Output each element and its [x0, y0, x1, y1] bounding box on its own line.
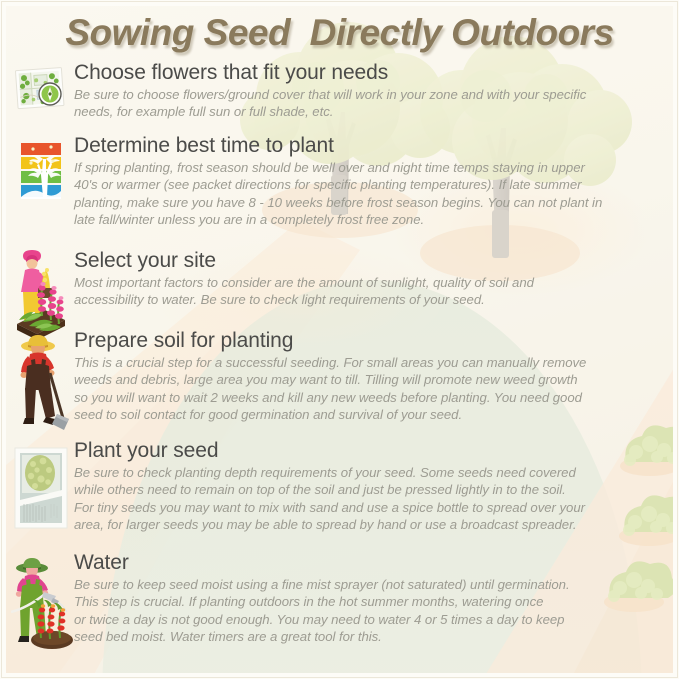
- gardener-watering-icon: [8, 554, 74, 654]
- step-body-line: accessibility to water. Be sure to check…: [74, 291, 664, 309]
- planter-flowers-icon: [11, 250, 71, 342]
- seed-packet-icon: [13, 446, 69, 530]
- step-icon-cell: [8, 250, 74, 342]
- step-body-line: seed to soil contact for good germinatio…: [74, 406, 664, 424]
- step-body-line: Be sure to check planting depth requirem…: [74, 464, 664, 482]
- step-body-line: area, for larger seeds you may be able t…: [74, 516, 664, 534]
- step-body: Most important factors to consider are t…: [74, 274, 664, 309]
- step-text-cell: Prepare soil for planting This is a cruc…: [74, 330, 672, 424]
- step-icon-cell: [8, 440, 74, 530]
- step-body: Be sure to check planting depth requirem…: [74, 464, 664, 534]
- compass-icon: [39, 83, 61, 105]
- step-icon-cell: [8, 62, 74, 118]
- step-text-cell: Plant your seed Be sure to check plantin…: [74, 440, 672, 534]
- step-body-line: 40's or warmer (see packet directions fo…: [74, 176, 664, 194]
- step-body-line: For tiny seeds you may want to mix with …: [74, 499, 664, 517]
- step-body-line: This is a crucial step for a successful …: [74, 354, 664, 372]
- step-body-line: If spring planting, frost season should …: [74, 159, 664, 177]
- step-heading: Prepare soil for planting: [74, 330, 664, 353]
- step-item: Choose flowers that fit your needs Be su…: [8, 62, 672, 121]
- step-body-line: Most important factors to consider are t…: [74, 274, 664, 292]
- step-body: This is a crucial step for a successful …: [74, 354, 664, 424]
- step-item: Plant your seed Be sure to check plantin…: [8, 440, 672, 534]
- step-item: Determine best time to plant If spring p…: [8, 135, 672, 229]
- step-body-line: Be sure to keep seed moist using a fine …: [74, 576, 664, 594]
- step-body: If spring planting, frost season should …: [74, 159, 664, 229]
- step-body-line: needs, for example full sun or full shad…: [74, 103, 664, 121]
- step-body: Be sure to choose flowers/ground cover t…: [74, 86, 664, 121]
- step-body-line: This step is crucial. If planting outdoo…: [74, 593, 664, 611]
- step-icon-cell: [8, 135, 74, 201]
- step-text-cell: Choose flowers that fit your needs Be su…: [74, 62, 672, 121]
- step-heading: Determine best time to plant: [74, 135, 664, 158]
- garden-plan-map-icon: [13, 66, 69, 118]
- steps-list: Choose flowers that fit your needs Be su…: [0, 0, 679, 679]
- step-text-cell: Determine best time to plant If spring p…: [74, 135, 672, 229]
- step-heading: Choose flowers that fit your needs: [74, 62, 664, 85]
- step-icon-cell: [8, 330, 74, 432]
- step-body-line: seed bed moist. Water timers are a great…: [74, 628, 664, 646]
- step-heading: Plant your seed: [74, 440, 664, 463]
- step-text-cell: Select your site Most important factors …: [74, 250, 672, 309]
- step-body-line: Be sure to choose flowers/ground cover t…: [74, 86, 664, 104]
- step-body-line: late fall/winter unless you are in a com…: [74, 211, 664, 229]
- step-text-cell: Water Be sure to keep seed moist using a…: [74, 552, 672, 646]
- infographic-poster: Sowing Seed Directly Outdoors: [0, 0, 679, 679]
- step-body-line: while others need to remain on top of th…: [74, 481, 664, 499]
- step-body-line: planting, make sure you have 8 - 10 week…: [74, 194, 664, 212]
- step-body-line: weeds and debris, large area you may wan…: [74, 371, 664, 389]
- step-item: Water Be sure to keep seed moist using a…: [8, 552, 672, 654]
- step-heading: Water: [74, 552, 664, 575]
- step-heading: Select your site: [74, 250, 664, 273]
- four-seasons-icon: [17, 141, 65, 201]
- step-body: Be sure to keep seed moist using a fine …: [74, 576, 664, 646]
- step-body-line: so you will want to wait 2 weeks and kil…: [74, 389, 664, 407]
- step-body-line: or twice a day is not good enough. You m…: [74, 611, 664, 629]
- step-icon-cell: [8, 552, 74, 654]
- step-item: Prepare soil for planting This is a cruc…: [8, 330, 672, 432]
- farmer-with-shovel-icon: [11, 332, 71, 432]
